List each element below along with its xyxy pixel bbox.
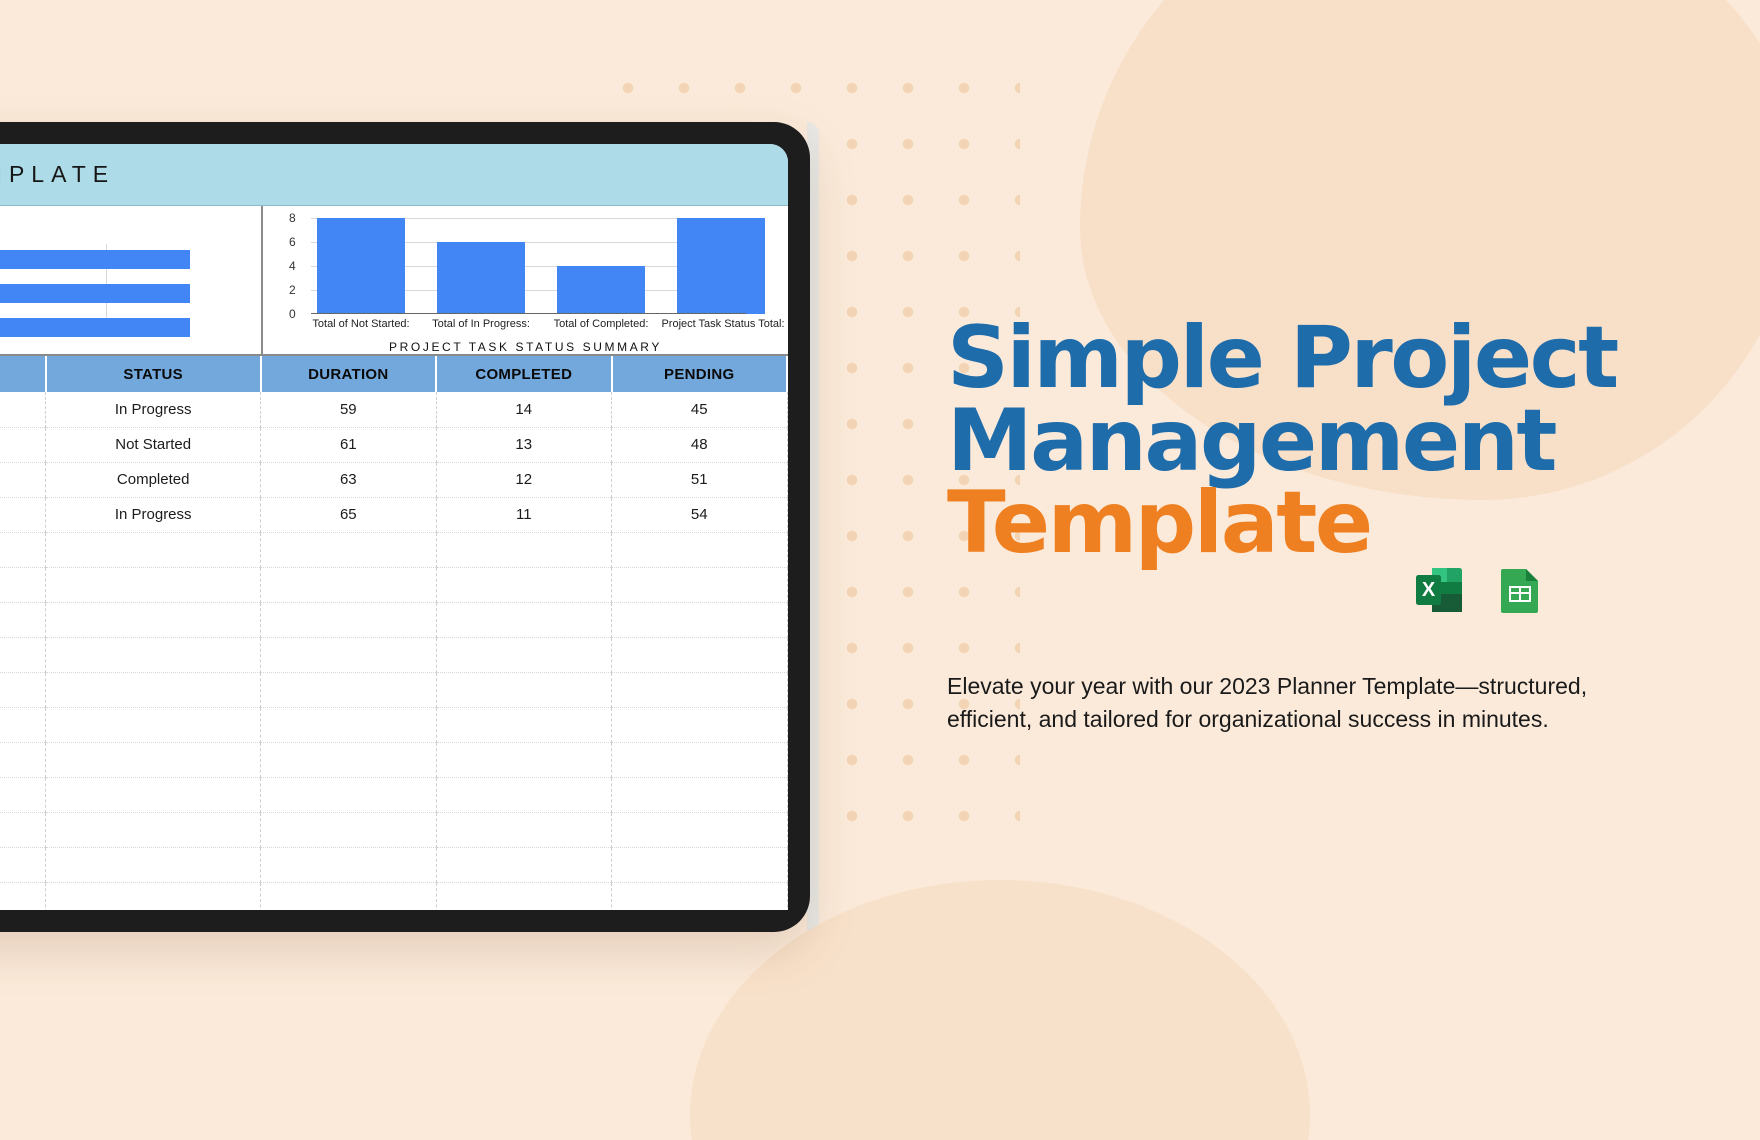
table-row-empty[interactable]	[0, 847, 787, 882]
cell-pending-empty[interactable]	[612, 777, 788, 812]
cell-pending-empty[interactable]	[612, 602, 788, 637]
table-row-empty[interactable]	[0, 637, 787, 672]
cell-pending[interactable]: 45	[612, 392, 788, 427]
cell-status[interactable]: Not Started	[46, 427, 261, 462]
table-row-empty[interactable]	[0, 567, 787, 602]
table-row-empty[interactable]	[0, 602, 787, 637]
cell-duration[interactable]: 61	[261, 427, 436, 462]
cell-status-empty[interactable]	[46, 707, 261, 742]
cell-pending-empty[interactable]	[612, 637, 788, 672]
column-header-duration[interactable]: DURATION	[261, 356, 436, 392]
table-row[interactable]: 205I23.7%In Progress591445	[0, 392, 787, 427]
vbar-ytick-label: 2	[289, 283, 296, 297]
vbar-category-label: Total of Not Started:	[312, 318, 409, 330]
cell-duration-empty[interactable]	[261, 707, 436, 742]
cell-pending-empty[interactable]	[612, 707, 788, 742]
cell-duration[interactable]: 65	[261, 497, 436, 532]
cell-pending-empty[interactable]	[612, 567, 788, 602]
cell-status-empty[interactable]	[46, 847, 261, 882]
cell-completed[interactable]: 12	[436, 462, 611, 497]
excel-icon[interactable]: X	[1412, 562, 1468, 618]
vbar-axis-line	[311, 313, 746, 314]
cell-progress-empty[interactable]	[0, 847, 46, 882]
cell-duration-empty[interactable]	[261, 567, 436, 602]
cell-progress[interactable]: 19.0%	[0, 462, 46, 497]
table-row-empty[interactable]	[0, 742, 787, 777]
cell-pending-empty[interactable]	[612, 847, 788, 882]
cell-completed-empty[interactable]	[436, 707, 611, 742]
vbar-category-label: Total of In Progress:	[432, 318, 530, 330]
cell-pending-empty[interactable]	[612, 882, 788, 910]
excel-icon-letter: X	[1422, 579, 1436, 601]
cell-duration-empty[interactable]	[261, 602, 436, 637]
cell-completed[interactable]: 11	[436, 497, 611, 532]
cell-progress-empty[interactable]	[0, 777, 46, 812]
table-row-empty[interactable]	[0, 707, 787, 742]
marketing-panel: Simple Project Management Template X	[947, 0, 1760, 1140]
page-title: Simple Project Management Template	[947, 317, 1647, 565]
cell-progress[interactable]: 21.3%	[0, 427, 46, 462]
table-row-empty[interactable]	[0, 882, 787, 910]
charts-row: N THE MONTH OF 0.50 0.75	[0, 206, 788, 356]
cell-progress-empty[interactable]	[0, 707, 46, 742]
cell-duration-empty[interactable]	[261, 777, 436, 812]
column-header-status[interactable]: STATUS	[46, 356, 261, 392]
cell-pending-empty[interactable]	[612, 812, 788, 847]
headline-line-3: Template	[947, 482, 1647, 565]
table-row-empty[interactable]	[0, 812, 787, 847]
table-row-empty[interactable]	[0, 532, 787, 567]
spreadsheet-title: MANAGEMENT TEMPLATE	[0, 161, 115, 188]
cell-completed-empty[interactable]	[436, 532, 611, 567]
cell-status-empty[interactable]	[46, 602, 261, 637]
cell-completed-empty[interactable]	[436, 742, 611, 777]
table-row[interactable]: 205I16.9%In Progress651154	[0, 497, 787, 532]
vbar-series-bar	[437, 242, 525, 314]
cell-progress-empty[interactable]	[0, 672, 46, 707]
headline-line-2: Management	[947, 400, 1647, 483]
tablet-screen: MANAGEMENT TEMPLATE N THE MONTH OF 0.50 …	[0, 144, 788, 910]
cell-completed-empty[interactable]	[436, 637, 611, 672]
cell-duration-empty[interactable]	[261, 742, 436, 777]
table-body: 205I23.7%In Progress591445205I21.3%Not S…	[0, 392, 787, 910]
vbar-series-bar	[317, 218, 405, 314]
monthly-horizontal-bar-chart[interactable]: N THE MONTH OF 0.50 0.75	[0, 206, 263, 354]
cell-pending-empty[interactable]	[612, 672, 788, 707]
hbar-axis-ticks: 0.50 0.75	[0, 330, 261, 352]
cell-progress-empty[interactable]	[0, 602, 46, 637]
hbar-plot-area	[0, 244, 261, 328]
cell-status-empty[interactable]	[46, 637, 261, 672]
cell-progress-empty[interactable]	[0, 637, 46, 672]
cell-completed-empty[interactable]	[436, 777, 611, 812]
vbar-series-bar	[677, 218, 765, 314]
cell-status-empty[interactable]	[46, 672, 261, 707]
cell-pending[interactable]: 48	[612, 427, 788, 462]
cell-duration-empty[interactable]	[261, 637, 436, 672]
column-header-progress[interactable]: PROGRESS	[0, 356, 46, 392]
google-sheets-icon[interactable]	[1492, 562, 1548, 618]
table-row[interactable]: 205I19.0%Completed631251	[0, 462, 787, 497]
cell-status-empty[interactable]	[46, 742, 261, 777]
cell-status-empty[interactable]	[46, 812, 261, 847]
spreadsheet-title-bar: MANAGEMENT TEMPLATE	[0, 144, 788, 206]
hbar-series-bar	[0, 284, 190, 303]
cell-completed-empty[interactable]	[436, 882, 611, 910]
vbar-ytick-label: 4	[289, 259, 296, 273]
cell-completed-empty[interactable]	[436, 847, 611, 882]
cell-duration-empty[interactable]	[261, 882, 436, 910]
cell-completed[interactable]: 14	[436, 392, 611, 427]
table-row-empty[interactable]	[0, 777, 787, 812]
hbar-chart-title: N THE MONTH OF	[0, 206, 261, 232]
project-task-status-bar-chart[interactable]: 0 2 4 6 8 Total of Not Started: Total of…	[263, 206, 788, 354]
table-header-row: TE PROGRESS STATUS DURATION COMPLETED PE…	[0, 356, 787, 392]
cell-completed-empty[interactable]	[436, 567, 611, 602]
column-header-pending[interactable]: PENDING	[612, 356, 788, 392]
table-row[interactable]: 205I21.3%Not Started611348	[0, 427, 787, 462]
cell-progress[interactable]: 23.7%	[0, 392, 46, 427]
cell-pending-empty[interactable]	[612, 742, 788, 777]
cell-duration-empty[interactable]	[261, 672, 436, 707]
cell-pending[interactable]: 54	[612, 497, 788, 532]
vbar-category-labels: Total of Not Started: Total of In Progre…	[311, 318, 746, 334]
cell-status[interactable]: In Progress	[46, 497, 261, 532]
cell-pending[interactable]: 51	[612, 462, 788, 497]
cell-progress-empty[interactable]	[0, 532, 46, 567]
cell-progress-empty[interactable]	[0, 567, 46, 602]
vbar-ytick-label: 8	[289, 211, 296, 225]
cell-duration-empty[interactable]	[261, 847, 436, 882]
vbar-ytick-label: 6	[289, 235, 296, 249]
cell-status-empty[interactable]	[46, 777, 261, 812]
vbar-series-bar	[557, 266, 645, 314]
task-table[interactable]: TE PROGRESS STATUS DURATION COMPLETED PE…	[0, 356, 788, 910]
cell-duration[interactable]: 59	[261, 392, 436, 427]
cell-status-empty[interactable]	[46, 567, 261, 602]
cell-progress-empty[interactable]	[0, 882, 46, 910]
cell-status[interactable]: In Progress	[46, 392, 261, 427]
cell-duration[interactable]: 63	[261, 462, 436, 497]
cell-completed[interactable]: 13	[436, 427, 611, 462]
tablet-mockup: MANAGEMENT TEMPLATE N THE MONTH OF 0.50 …	[0, 122, 810, 932]
cell-duration-empty[interactable]	[261, 532, 436, 567]
vbar-ytick-label: 0	[289, 307, 296, 321]
vbar-chart-title: PROJECT TASK STATUS SUMMARY	[263, 340, 788, 354]
cell-progress-empty[interactable]	[0, 742, 46, 777]
table-row-empty[interactable]	[0, 672, 787, 707]
vbar-category-label: Project Task Status Total:	[661, 318, 784, 330]
cell-completed-empty[interactable]	[436, 672, 611, 707]
cell-pending-empty[interactable]	[612, 532, 788, 567]
cell-progress[interactable]: 16.9%	[0, 497, 46, 532]
cell-status[interactable]: Completed	[46, 462, 261, 497]
vbar-category-label: Total of Completed:	[554, 318, 649, 330]
column-header-completed[interactable]: COMPLETED	[436, 356, 611, 392]
cell-completed-empty[interactable]	[436, 812, 611, 847]
cell-progress-empty[interactable]	[0, 812, 46, 847]
format-icon-row: X	[1412, 562, 1548, 618]
vbar-plot-area: 0 2 4 6 8	[311, 218, 746, 314]
subcopy-text: Elevate your year with our 2023 Planner …	[947, 670, 1627, 735]
cell-completed-empty[interactable]	[436, 602, 611, 637]
cell-duration-empty[interactable]	[261, 812, 436, 847]
headline-line-1: Simple Project	[947, 317, 1647, 400]
cell-status-empty[interactable]	[46, 882, 261, 910]
hbar-series-bar	[0, 250, 190, 269]
cell-status-empty[interactable]	[46, 532, 261, 567]
